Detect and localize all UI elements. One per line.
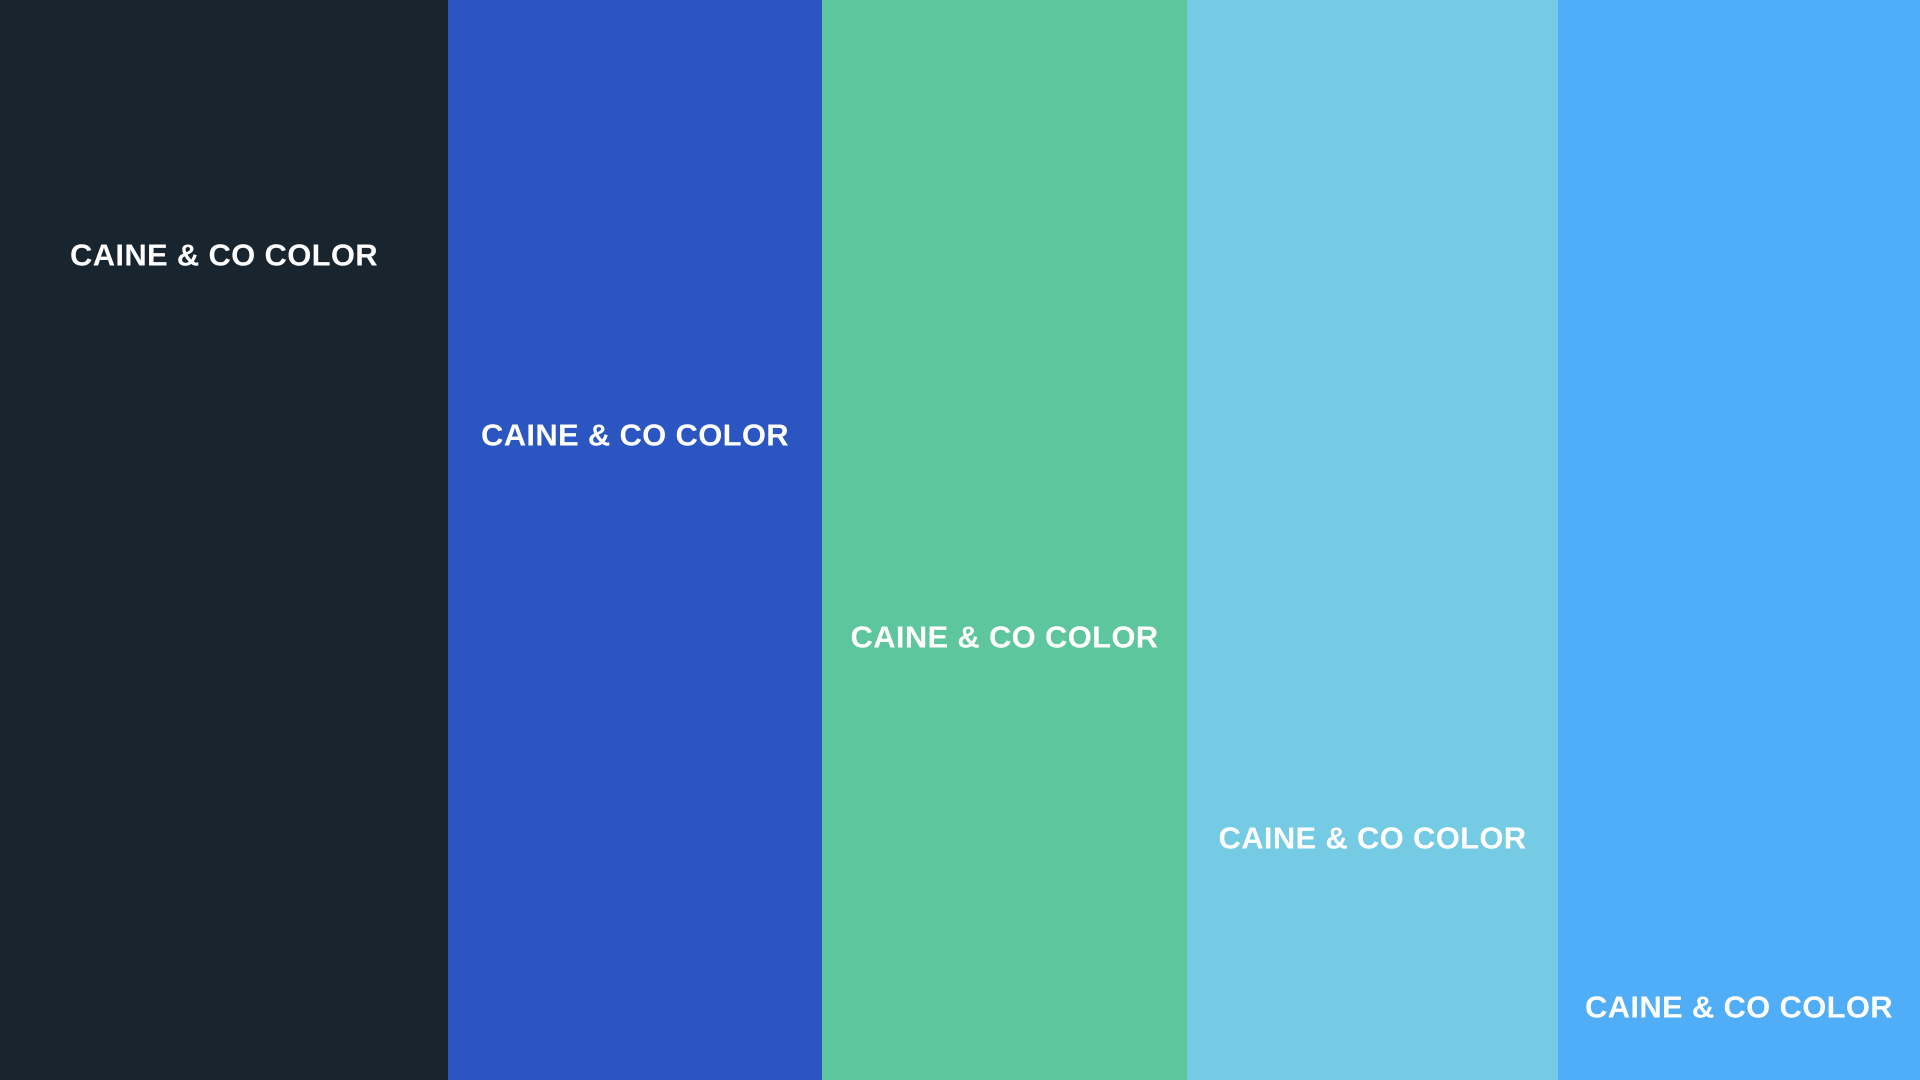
swatch-mint-green[interactable]: CAINE & CO COLOR bbox=[822, 0, 1187, 1080]
swatch-label: CAINE & CO COLOR bbox=[822, 622, 1187, 653]
swatch-label: CAINE & CO COLOR bbox=[1187, 823, 1558, 854]
swatch-royal-blue[interactable]: CAINE & CO COLOR bbox=[448, 0, 822, 1080]
swatch-azure[interactable]: CAINE & CO COLOR bbox=[1558, 0, 1920, 1080]
swatch-label: CAINE & CO COLOR bbox=[1558, 992, 1920, 1023]
swatch-label: CAINE & CO COLOR bbox=[0, 240, 448, 271]
swatch-navy[interactable]: CAINE & CO COLOR bbox=[0, 0, 448, 1080]
color-palette-board: CAINE & CO COLORCAINE & CO COLORCAINE & … bbox=[0, 0, 1920, 1080]
swatch-sky-blue[interactable]: CAINE & CO COLOR bbox=[1187, 0, 1558, 1080]
swatch-label: CAINE & CO COLOR bbox=[448, 420, 822, 451]
